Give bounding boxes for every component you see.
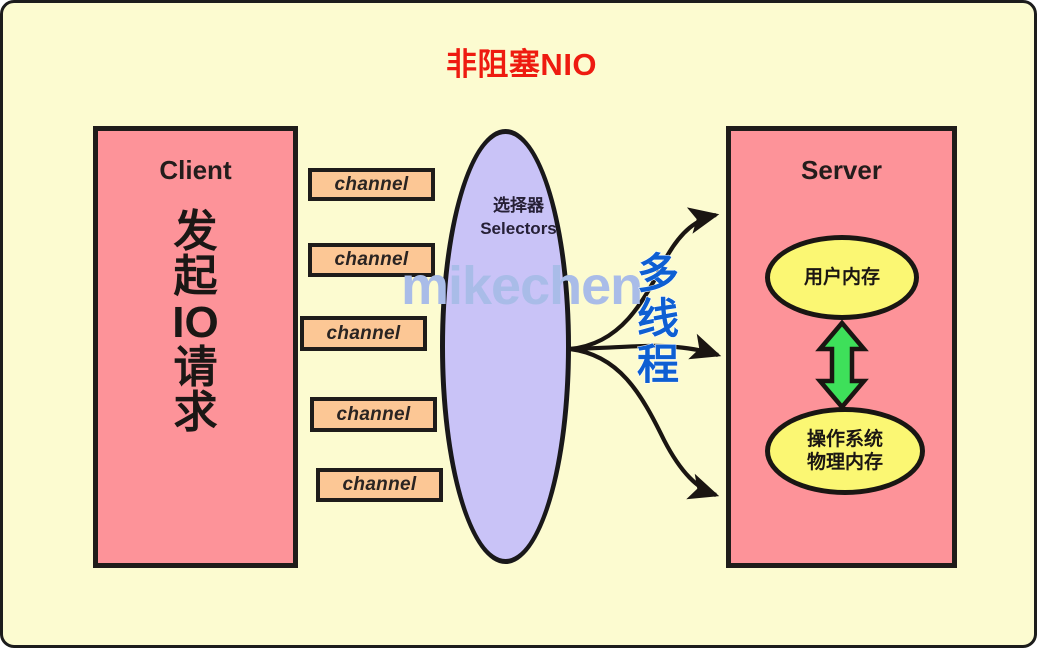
multithread-char: 线: [618, 296, 698, 341]
diagram-canvas: 非阻塞NIO Client 发 起 IO 请 求 channel channel…: [0, 0, 1037, 648]
multithread-char: 多: [618, 251, 698, 296]
selector-label-en: Selectors: [3, 218, 1034, 241]
selector-label-cn: 选择器: [3, 195, 1034, 218]
selector-label: 选择器 Selectors: [3, 195, 1034, 241]
memory-sync-arrow: [3, 3, 1037, 648]
multithread-label: 多 线 程: [618, 251, 698, 387]
green-double-arrow: [820, 323, 864, 407]
multithread-char: 程: [618, 342, 698, 387]
